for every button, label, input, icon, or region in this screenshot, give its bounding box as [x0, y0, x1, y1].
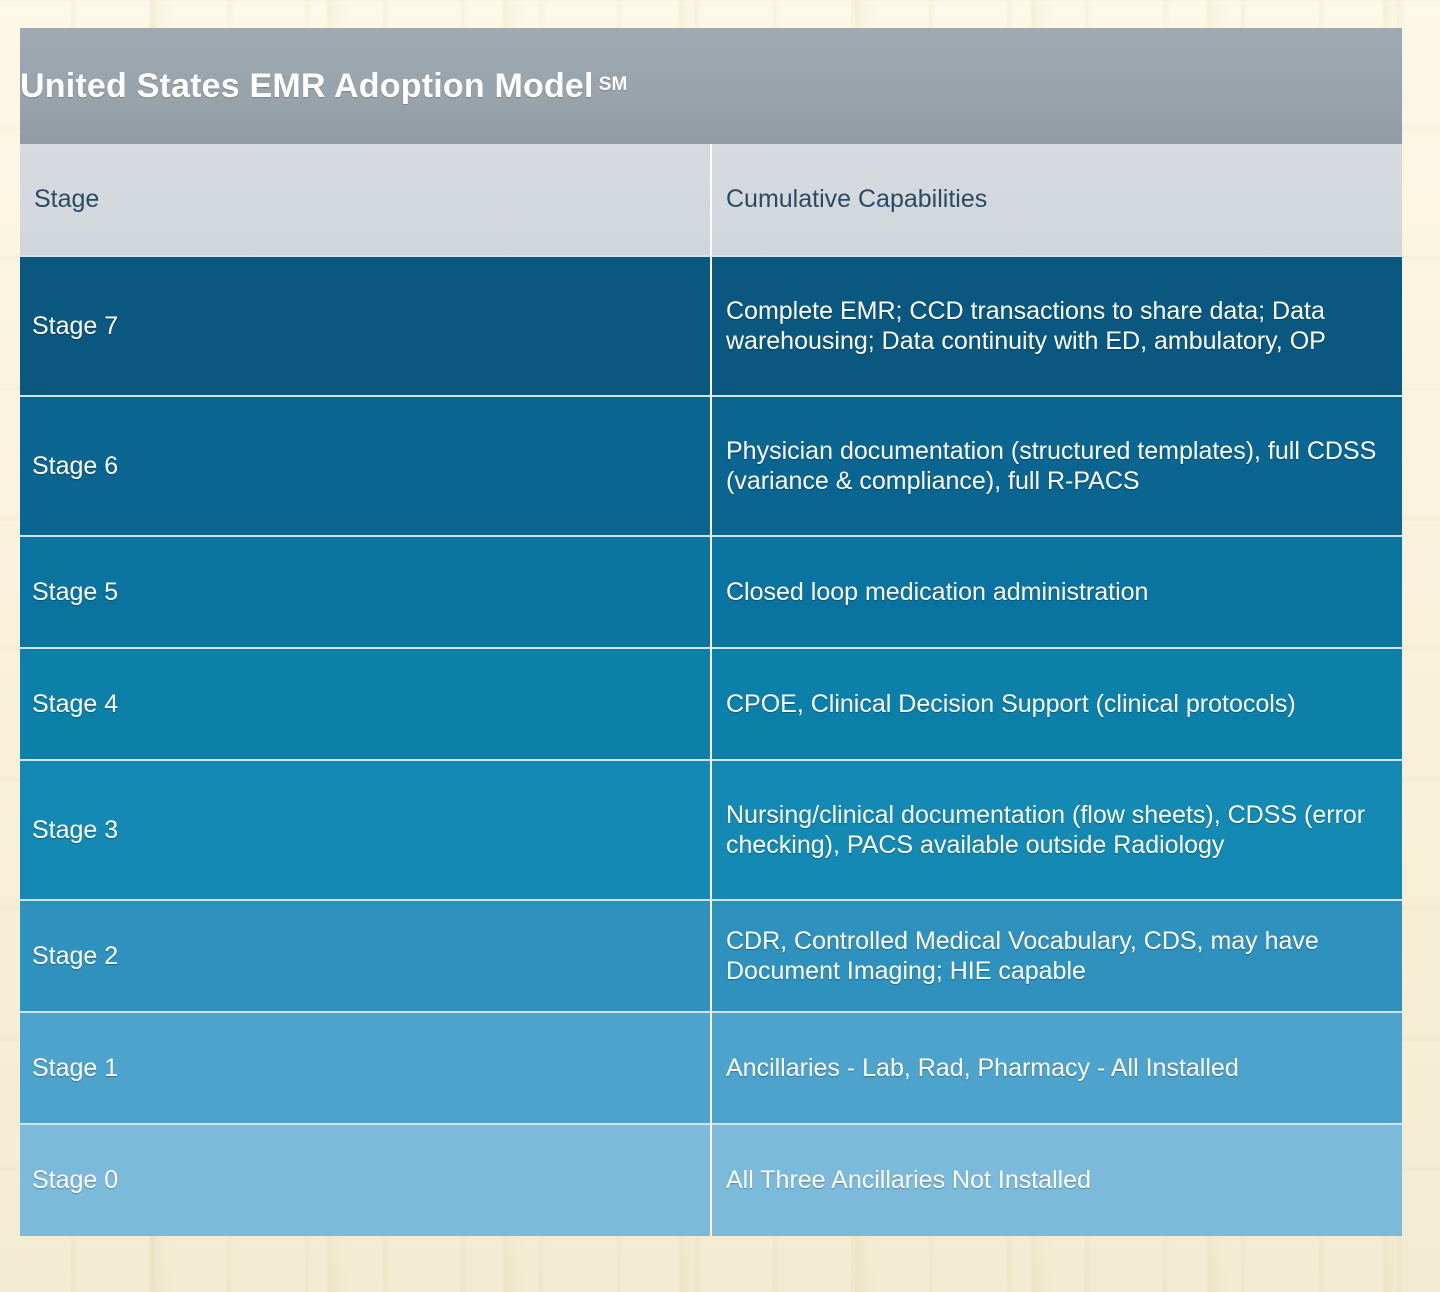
capabilities-2: CDR, Controlled Medical Vocabulary, CDS,… [711, 900, 1402, 1012]
stage-label-2: Stage 2 [20, 900, 711, 1012]
table-row[interactable]: Stage 0 All Three Ancillaries Not Instal… [20, 1124, 1402, 1236]
table-body: United States EMR Adoption ModelSM Stage… [20, 28, 1402, 1236]
table-row[interactable]: Stage 1 Ancillaries - Lab, Rad, Pharmacy… [20, 1012, 1402, 1124]
table-row[interactable]: Stage 3 Nursing/clinical documentation (… [20, 760, 1402, 900]
column-header-stage-label: Stage [20, 185, 710, 214]
capabilities-1: Ancillaries - Lab, Rad, Pharmacy - All I… [711, 1012, 1402, 1124]
service-mark-superscript: SM [599, 74, 628, 95]
column-header-capabilities-label: Cumulative Capabilities [712, 185, 1402, 214]
capabilities-3: Nursing/clinical documentation (flow she… [711, 760, 1402, 900]
table-header-row: Stage Cumulative Capabilities [20, 144, 1402, 256]
column-header-stage: Stage [20, 144, 711, 256]
emr-adoption-model-slide: United States EMR Adoption ModelSM Stage… [20, 28, 1402, 1236]
table-row[interactable]: Stage 4 CPOE, Clinical Decision Support … [20, 648, 1402, 760]
stage-label-3: Stage 3 [20, 760, 711, 900]
capabilities-0: All Three Ancillaries Not Installed [711, 1124, 1402, 1236]
stage-label-1: Stage 1 [20, 1012, 711, 1124]
capabilities-7: Complete EMR; CCD transactions to share … [711, 256, 1402, 396]
stage-label-4: Stage 4 [20, 648, 711, 760]
stage-label-6: Stage 6 [20, 396, 711, 536]
stage-label-5: Stage 5 [20, 536, 711, 648]
stage-label-0: Stage 0 [20, 1124, 711, 1236]
capabilities-4: CPOE, Clinical Decision Support (clinica… [711, 648, 1402, 760]
page-title: United States EMR Adoption Model [20, 67, 594, 105]
column-header-capabilities: Cumulative Capabilities [711, 144, 1402, 256]
capabilities-6: Physician documentation (structured temp… [711, 396, 1402, 536]
capabilities-5: Closed loop medication administration [711, 536, 1402, 648]
table-row[interactable]: Stage 2 CDR, Controlled Medical Vocabula… [20, 900, 1402, 1012]
table-row[interactable]: Stage 5 Closed loop medication administr… [20, 536, 1402, 648]
title-row: United States EMR Adoption ModelSM [20, 28, 1402, 144]
stage-label-7: Stage 7 [20, 256, 711, 396]
slide-title-bar: United States EMR Adoption ModelSM [20, 28, 1402, 144]
emr-adoption-model-table: United States EMR Adoption ModelSM Stage… [20, 28, 1402, 1236]
table-row[interactable]: Stage 7 Complete EMR; CCD transactions t… [20, 256, 1402, 396]
table-row[interactable]: Stage 6 Physician documentation (structu… [20, 396, 1402, 536]
